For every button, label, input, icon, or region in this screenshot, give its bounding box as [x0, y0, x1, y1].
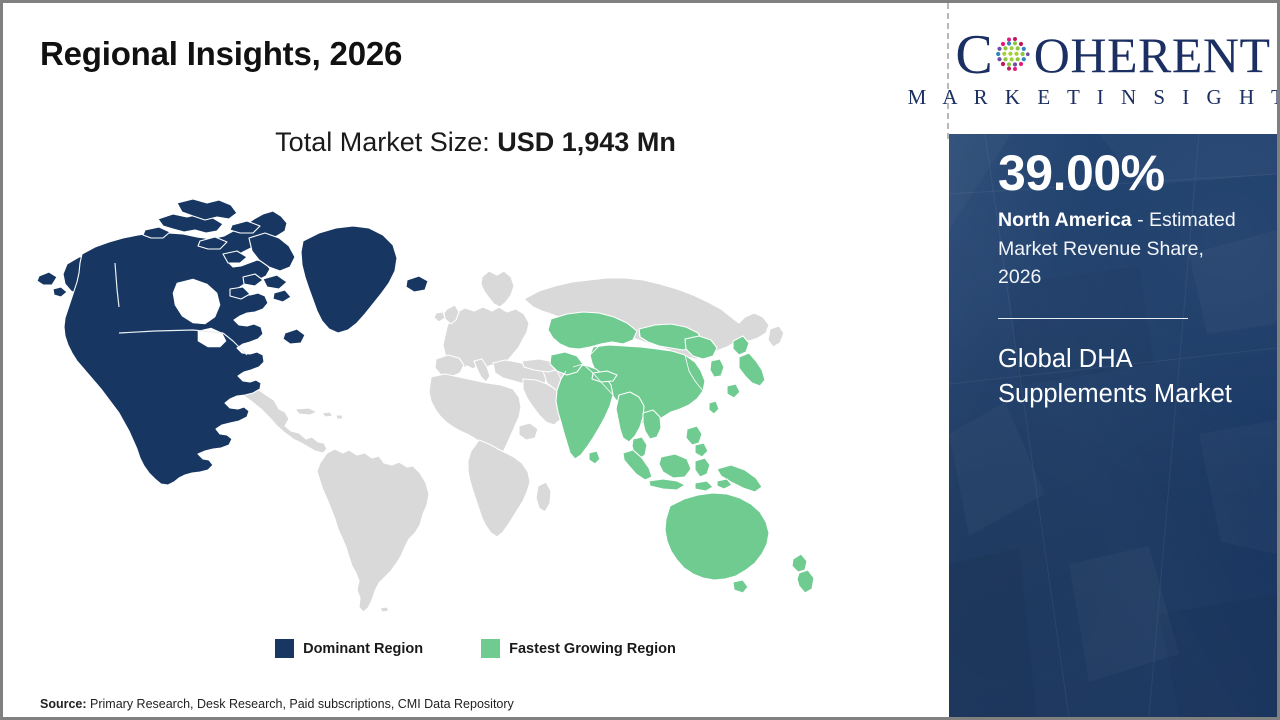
market-size-value: USD 1,943 Mn	[497, 127, 676, 157]
square-swatch-navy-icon	[275, 639, 294, 658]
stat-content: 39.00% North America - Estimated Market …	[998, 148, 1243, 412]
map-legend: Dominant Region Fastest Growing Region	[3, 639, 948, 658]
map-region-dominant	[37, 199, 428, 485]
map-region-fastest-growing	[548, 312, 814, 593]
legend-label-dominant: Dominant Region	[303, 641, 423, 657]
logo-wordmark: C	[955, 27, 1270, 83]
legend-item-fastest-growing: Fastest Growing Region	[481, 639, 676, 658]
source-text: Primary Research, Desk Research, Paid su…	[87, 697, 514, 711]
revenue-share-percent: 39.00%	[998, 148, 1243, 199]
legend-label-fastest-growing: Fastest Growing Region	[509, 641, 676, 657]
dominant-region-name: North America	[998, 209, 1132, 231]
world-map	[27, 181, 857, 621]
logo-subtitle: M A R K E T I N S I G H T S	[908, 85, 1280, 110]
left-content-panel: Regional Insights, 2026 Total Market Siz…	[3, 3, 948, 717]
market-size-label: Total Market Size:	[275, 127, 497, 157]
legend-item-dominant: Dominant Region	[275, 639, 423, 658]
revenue-share-description: North America - Estimated Market Revenue…	[998, 206, 1243, 292]
brand-logo: C	[949, 3, 1277, 134]
right-sidebar: C	[949, 3, 1277, 717]
total-market-size: Total Market Size: USD 1,943 Mn	[3, 127, 948, 158]
dotted-globe-icon	[993, 34, 1033, 74]
source-note: Source: Primary Research, Desk Research,…	[40, 697, 514, 711]
regional-stat-panel: 39.00% North America - Estimated Market …	[949, 134, 1277, 717]
logo-letter-c: C	[955, 27, 992, 83]
report-slide: Regional Insights, 2026 Total Market Siz…	[0, 0, 1280, 720]
market-report-title: Global DHA Supplements Market	[998, 342, 1243, 412]
square-swatch-green-icon	[481, 639, 500, 658]
page-title: Regional Insights, 2026	[40, 35, 402, 73]
horizontal-rule	[998, 318, 1188, 319]
logo-wordmark-rest: OHERENT	[1034, 30, 1271, 80]
source-label: Source:	[40, 697, 87, 711]
